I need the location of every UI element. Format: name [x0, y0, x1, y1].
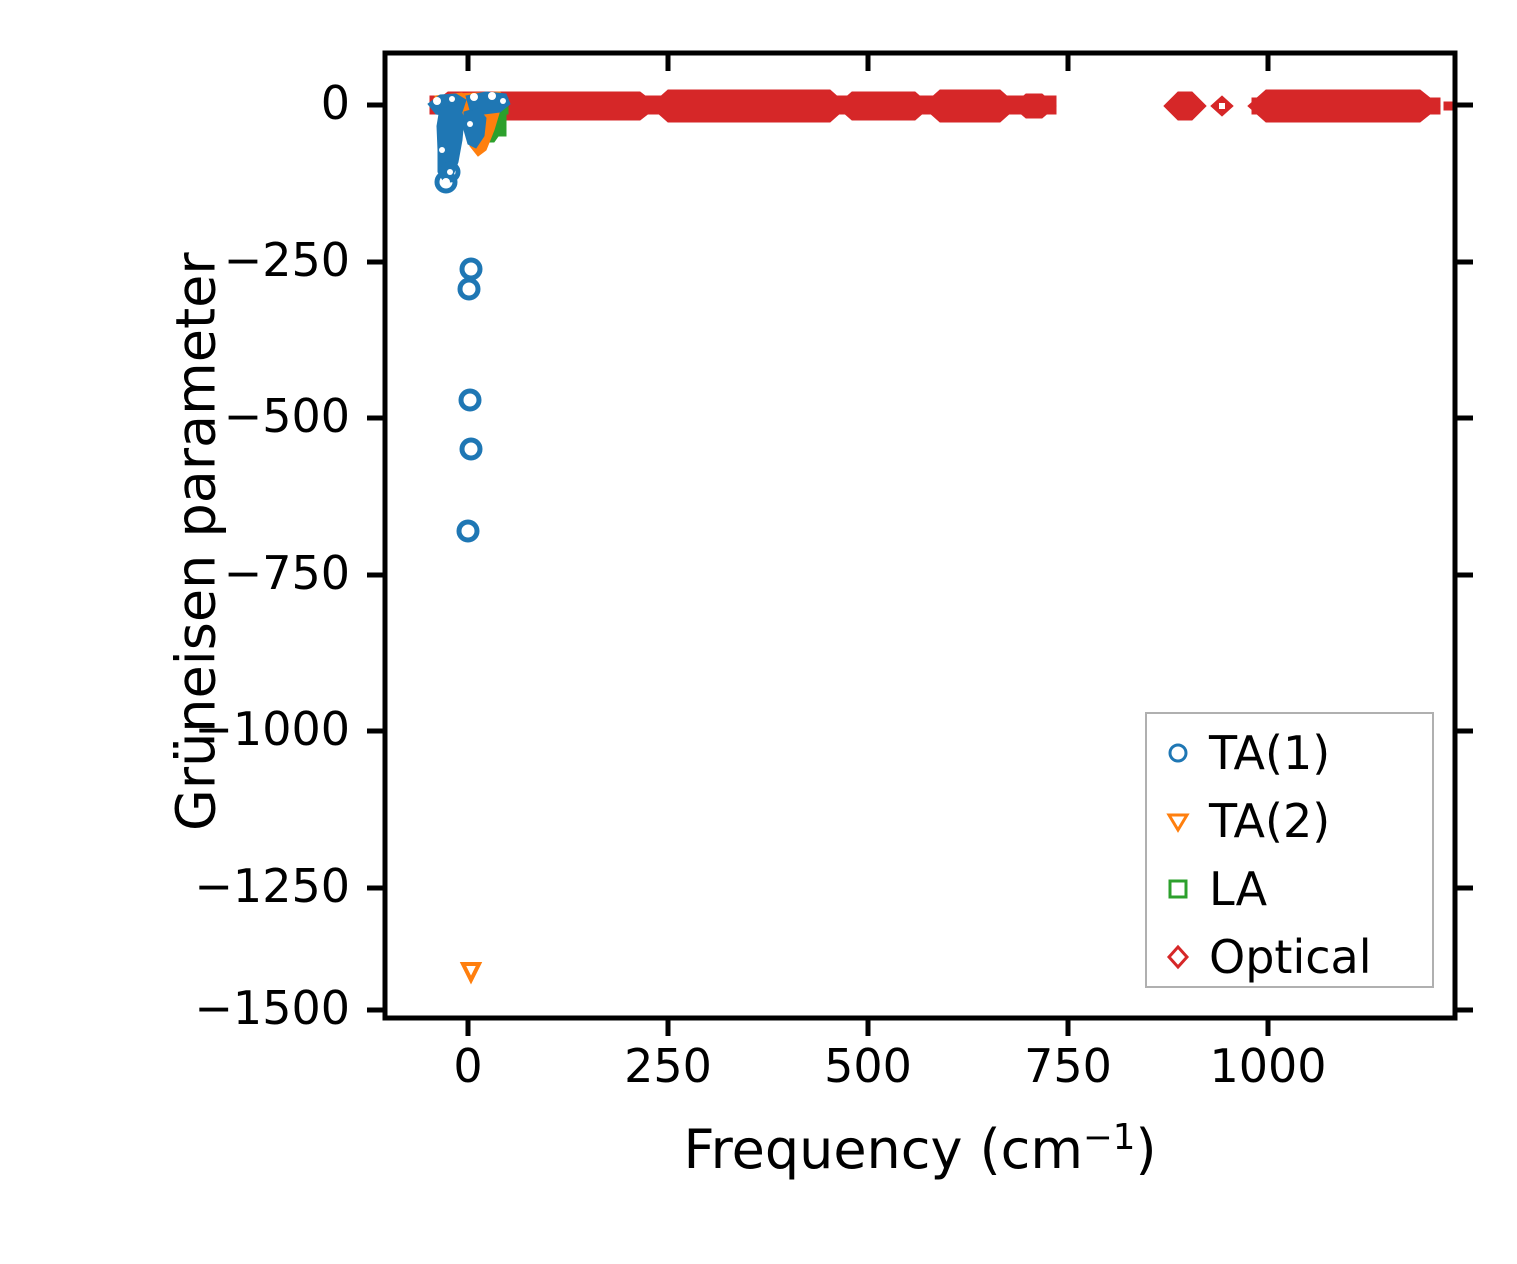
x-axis-label: Frequency (cm−1)	[385, 1120, 1455, 1179]
legend-item-optical[interactable]: Optical	[1147, 924, 1432, 990]
x-tick-label-750: 750	[968, 1043, 1168, 1089]
legend-item-la[interactable]: LA	[1147, 856, 1432, 922]
x-tick-label-250: 250	[568, 1043, 768, 1089]
x-axis-label-close: )	[1135, 1118, 1156, 1181]
x-axis-label-exponent: −1	[1083, 1117, 1136, 1158]
legend-label-ta2: TA(2)	[1209, 798, 1330, 844]
x-tick-label-0: 0	[368, 1043, 568, 1089]
diamond-marker-icon	[1147, 944, 1209, 970]
legend-item-ta1[interactable]: TA(1)	[1147, 720, 1432, 786]
legend-item-ta2[interactable]: TA(2)	[1147, 788, 1432, 854]
triangle-down-marker-icon	[1147, 808, 1209, 834]
legend-label-la: LA	[1209, 866, 1267, 912]
legend-label-ta1: TA(1)	[1209, 730, 1330, 776]
figure-canvas: 0 −250 −500 −750 −1000 −1250 −1500 0 250…	[0, 0, 1517, 1264]
y-axis-label: Grüneisen parameter	[166, 62, 225, 1022]
square-marker-icon	[1147, 876, 1209, 902]
x-tick-label-500: 500	[768, 1043, 968, 1089]
x-tick-label-1000: 1000	[1168, 1043, 1368, 1089]
x-axis-label-main: Frequency (cm	[683, 1118, 1083, 1181]
circle-marker-icon	[1147, 740, 1209, 766]
legend-box: TA(1) TA(2) LA Optic	[1145, 712, 1434, 988]
series-optical-points	[430, 90, 1455, 122]
legend-label-optical: Optical	[1209, 934, 1371, 980]
